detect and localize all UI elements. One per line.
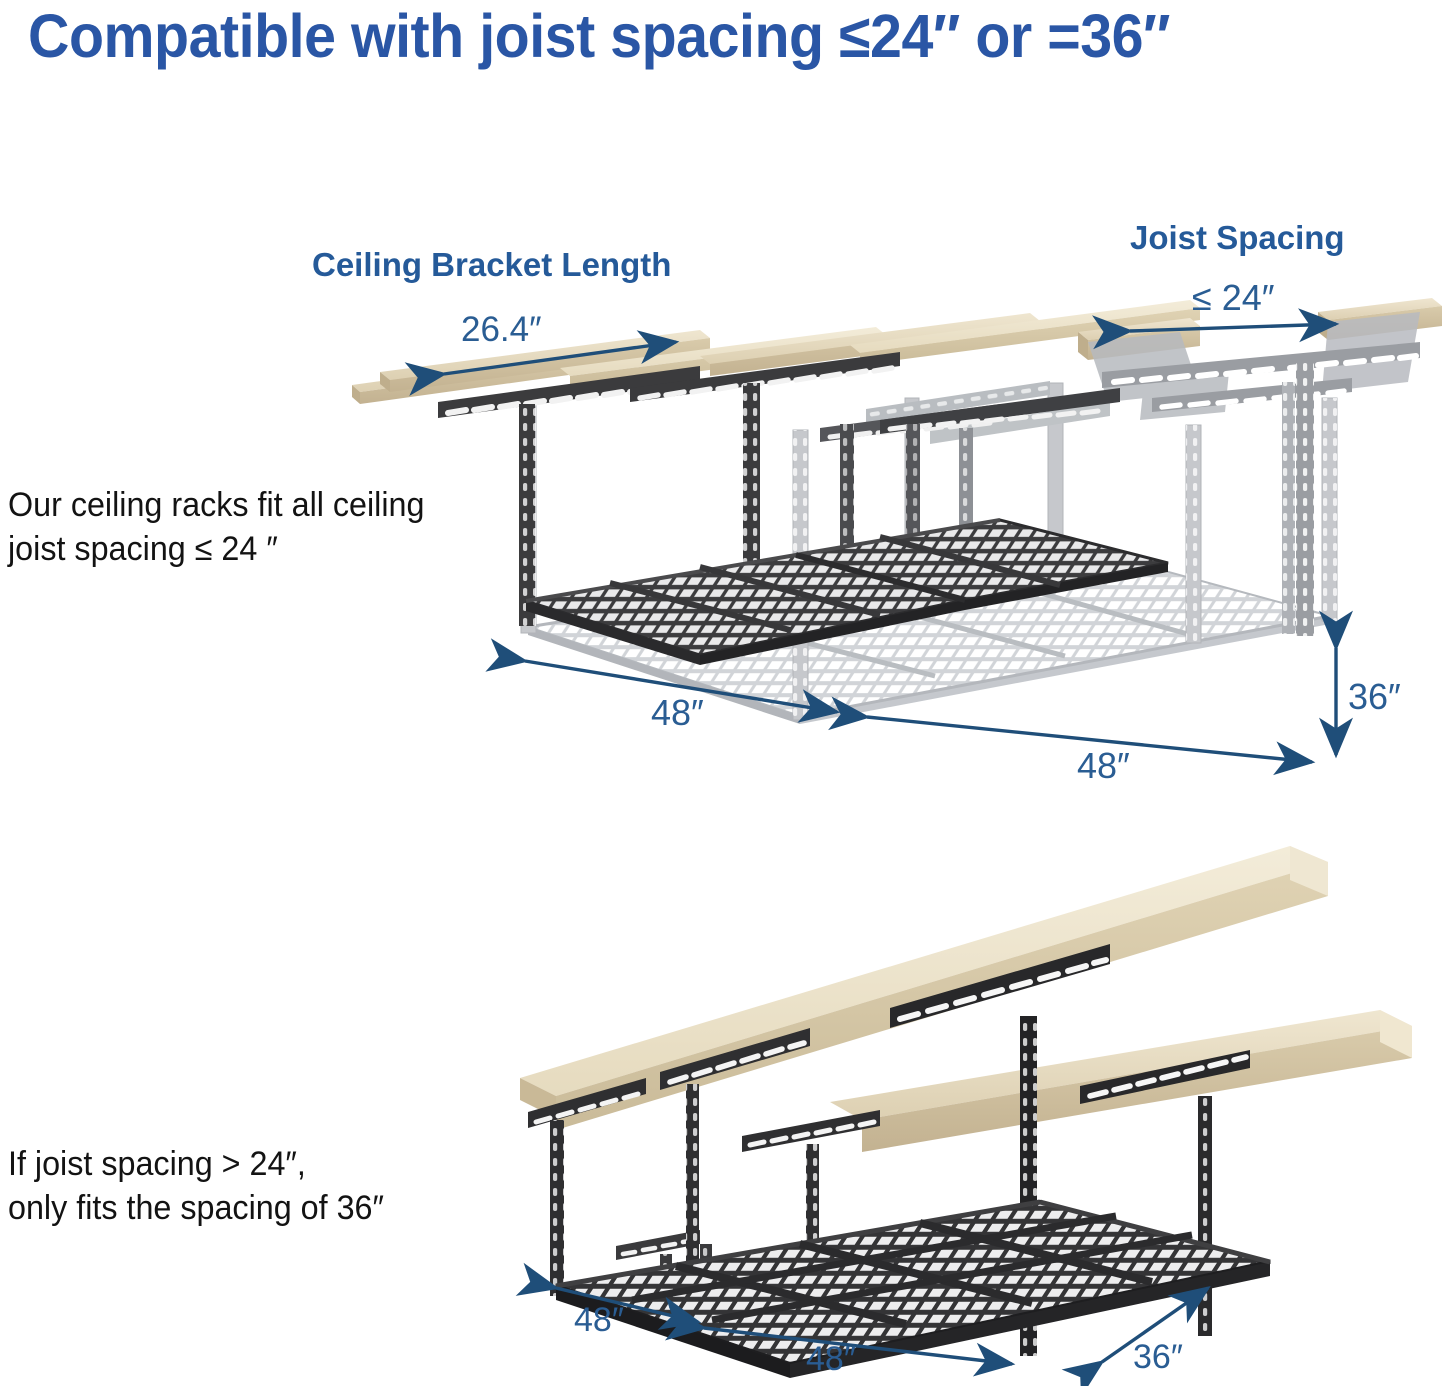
dimension-top-rack-height: 36″ — [1348, 676, 1401, 718]
bottom-diagram — [520, 846, 1412, 1378]
dimension-top-rack-depth: 48″ — [651, 692, 704, 734]
dimension-top-rack-width: 48″ — [1077, 745, 1130, 787]
top-diagram — [0, 0, 1442, 762]
dimension-bottom-rack-depth: 48″ — [574, 1301, 624, 1340]
dimension-bottom-rack-width: 48″ — [806, 1340, 856, 1379]
heading-joist-spacing: Joist Spacing — [1130, 219, 1345, 257]
dimension-joist-spacing: ≤ 24″ — [1192, 277, 1275, 319]
caption-bottom: If joist spacing > 24″, only fits the sp… — [8, 1142, 502, 1230]
dimension-bracket-length: 26.4″ — [461, 310, 542, 350]
dimension-bottom-rack-side: 36″ — [1133, 1338, 1183, 1377]
caption-top: Our ceiling racks fit all ceiling joist … — [8, 483, 521, 571]
heading-ceiling-bracket-length: Ceiling Bracket Length — [312, 246, 671, 284]
